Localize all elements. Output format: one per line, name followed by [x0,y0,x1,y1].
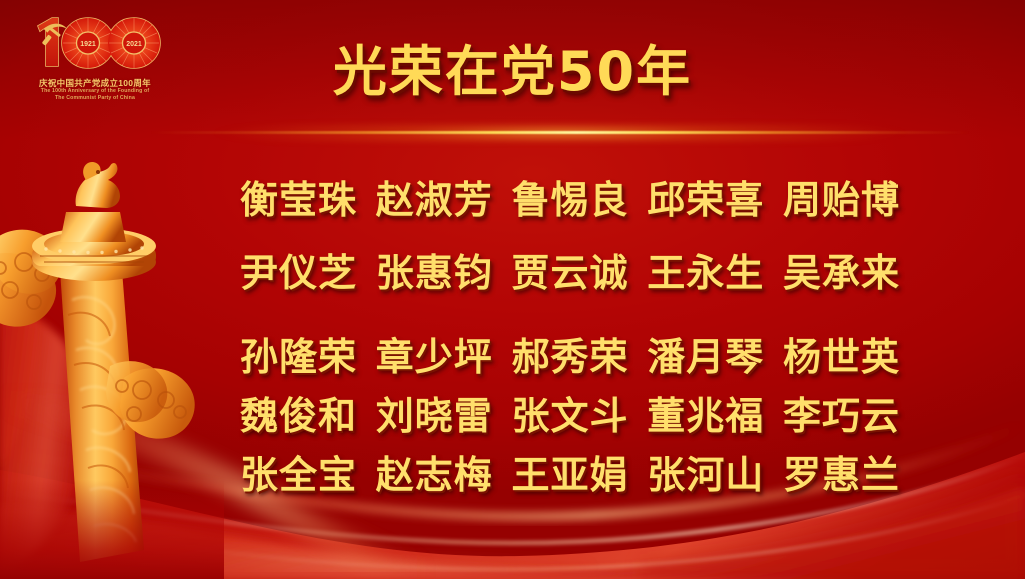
honoree-name: 吴承来 [783,242,900,297]
poster-canvas: 1921 2021 庆祝中国共产党成立100周年 The 100th Anniv… [0,0,1025,579]
honoree-name: 郝秀荣 [511,326,628,381]
name-row: 魏俊和 刘晓雷 张文斗 董兆福 李巧云 [240,383,900,442]
honoree-name: 赵志梅 [376,444,493,499]
honoree-name: 张惠钧 [376,242,493,297]
name-row: 张全宝 赵志梅 王亚娟 张河山 罗惠兰 [240,442,900,501]
page-title: 光荣在党50年 [0,44,1025,101]
honoree-name: 李巧云 [783,385,900,440]
honoree-name-list: 衡莹珠 赵淑芳 鲁惕良 邱荣喜 周贻博 尹仪芝 张惠钧 贾云诚 王永生 吴承来 … [240,160,900,501]
honoree-name: 鲁惕良 [511,169,628,224]
honoree-name: 孙隆荣 [240,326,357,381]
honoree-name: 张河山 [647,444,764,499]
honoree-name: 刘晓雷 [376,385,493,440]
honoree-name: 杨世英 [783,326,900,381]
name-row: 尹仪芝 张惠钧 贾云诚 王永生 吴承来 [240,233,900,306]
honoree-name: 尹仪芝 [240,242,357,297]
honoree-name: 魏俊和 [240,385,357,440]
honoree-name: 周贻博 [783,169,900,224]
honoree-name: 张文斗 [511,385,628,440]
honoree-name: 潘月琴 [647,326,764,381]
honoree-name: 罗惠兰 [783,444,900,499]
honoree-name: 张全宝 [240,444,357,499]
honoree-name: 章少坪 [376,326,493,381]
name-row: 衡莹珠 赵淑芳 鲁惕良 邱荣喜 周贻博 [240,160,900,233]
name-row: 孙隆荣 章少坪 郝秀荣 潘月琴 杨世英 [240,324,900,383]
honoree-name: 贾云诚 [511,242,628,297]
honoree-name: 董兆福 [647,385,764,440]
honoree-name: 王亚娟 [511,444,628,499]
honoree-name: 衡莹珠 [240,169,357,224]
honoree-name: 王永生 [647,242,764,297]
honoree-name: 邱荣喜 [647,169,764,224]
honoree-name: 赵淑芳 [376,169,493,224]
